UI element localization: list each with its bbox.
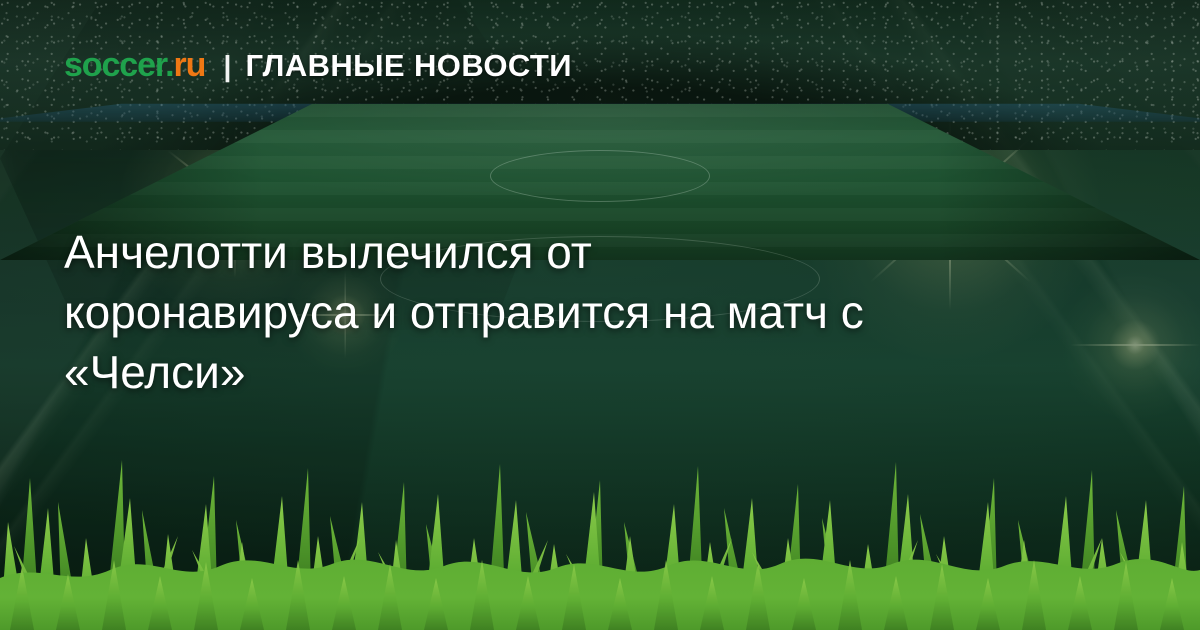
headline-line: коронавируса и отправится на матч с — [64, 282, 1144, 342]
logo-tld: ru — [174, 46, 206, 84]
news-card: soccer.ru | ГЛАВНЫЕ НОВОСТИ Анчелотти вы… — [0, 0, 1200, 630]
page-title: Анчелотти вылечился от коронавируса и от… — [64, 222, 1144, 402]
stadium-bowl — [0, 0, 1200, 260]
headline-line: Анчелотти вылечился от — [64, 222, 1144, 282]
site-logo[interactable]: soccer.ru — [64, 48, 205, 82]
header: soccer.ru | ГЛАВНЫЕ НОВОСТИ — [64, 48, 572, 82]
logo-dot: . — [165, 46, 173, 84]
section-kicker: ГЛАВНЫЕ НОВОСТИ — [245, 50, 571, 81]
logo-word: soccer — [64, 46, 165, 84]
header-separator: | — [223, 53, 231, 82]
headline-line: «Челси» — [64, 342, 1144, 402]
foreground-grass — [0, 450, 1200, 630]
